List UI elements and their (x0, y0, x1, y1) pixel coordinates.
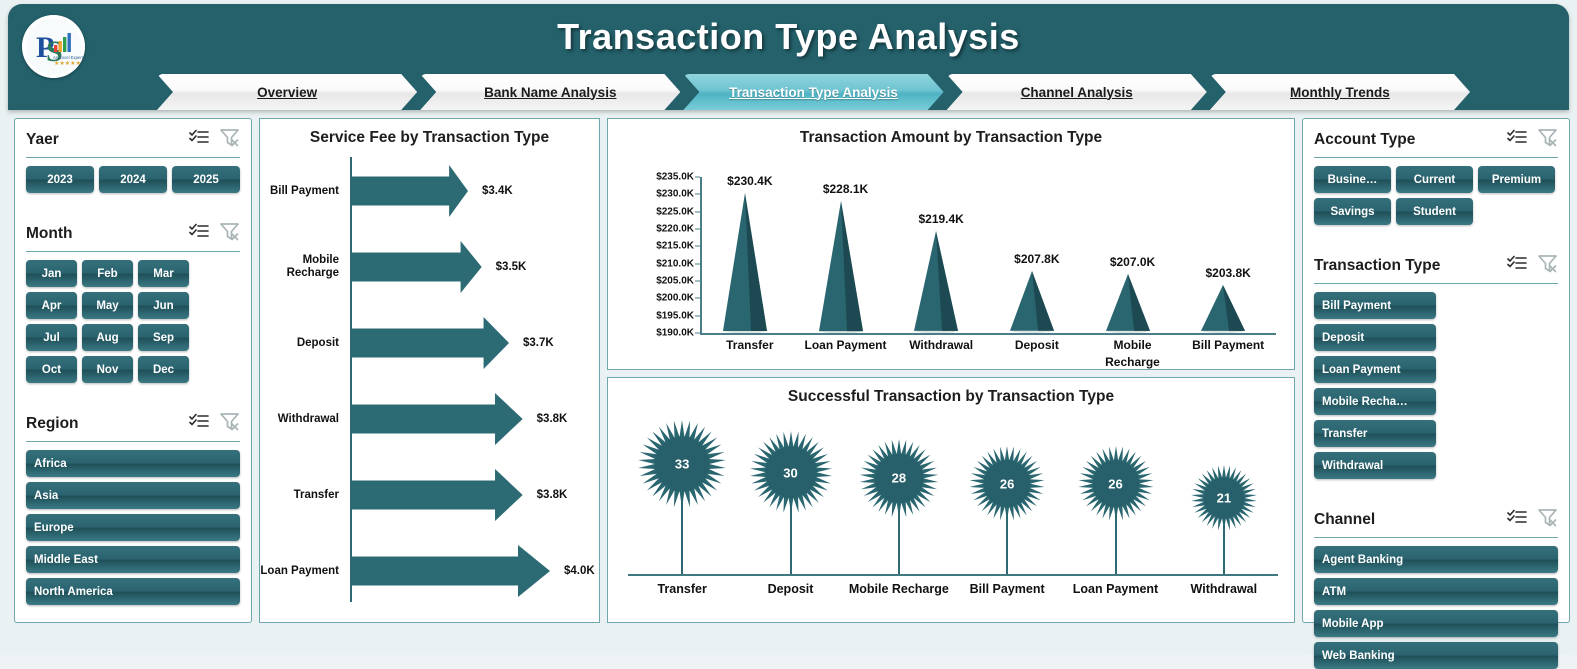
slicer-option-channel[interactable]: Agent Banking (1314, 546, 1558, 573)
slicer-option-transaction-type[interactable]: Transfer (1314, 420, 1436, 447)
burst-value-label: 26 (1108, 476, 1122, 491)
funnel-value-label: $3.8K (537, 489, 568, 501)
cone-y-tick-label: $235.0K (656, 172, 694, 183)
burst-x-tick-label: Deposit (737, 582, 845, 596)
cone-item[interactable]: $230.4K (702, 177, 798, 333)
slicer-option-account-type[interactable]: Student (1396, 198, 1473, 225)
cone-y-tick-label: $200.0K (656, 293, 694, 304)
slicer-options-region: AfricaAsiaEuropeMiddle EastNorth America (26, 450, 240, 605)
slicer-option-month[interactable]: Oct (26, 356, 77, 383)
funnel-value-label: $4.0K (564, 565, 595, 577)
funnel-category-label: Mobile Recharge (260, 254, 346, 280)
slicer-option-month[interactable]: Apr (26, 292, 77, 319)
slicer-option-channel[interactable]: Mobile App (1314, 610, 1558, 637)
service-fee-plot-area: Bill Payment$3.4KMobile Recharge$3.5KDep… (260, 147, 599, 602)
funnel-row[interactable]: Deposit$3.7K (260, 305, 599, 381)
funnel-arrow-wrap: $3.8K (346, 381, 599, 457)
funnel-row[interactable]: Mobile Recharge$3.5K (260, 229, 599, 305)
slicer-option-transaction-type[interactable]: Mobile Recha… (1314, 388, 1436, 415)
slicer-divider (26, 251, 240, 252)
cone-y-tick-label: $215.0K (656, 241, 694, 252)
slicer-option-month[interactable]: Dec (138, 356, 189, 383)
slicer-month: Month JanFebMarAprMayJunJulAugSepOctNovD… (26, 213, 240, 403)
cone-y-tick-label: $225.0K (656, 206, 694, 217)
cone-x-tick-label: Withdrawal (893, 337, 989, 354)
spacer (1314, 479, 1558, 499)
slicer-option-month[interactable]: May (82, 292, 133, 319)
cone-shape[interactable] (817, 201, 875, 333)
burst-value-label: 30 (783, 465, 797, 480)
funnel-category-label: Transfer (260, 489, 346, 502)
transaction-amount-chart-panel: Transaction Amount by Transaction Type $… (607, 118, 1295, 370)
tab-label: Transaction Type Analysis (729, 85, 898, 100)
slicer-options-channel: Agent BankingATMMobile AppWeb Banking (1314, 546, 1558, 669)
slicer-title-channel: Channel (1314, 511, 1375, 529)
cone-value-label: $228.1K (823, 182, 868, 196)
funnel-category-label: Loan Payment (260, 565, 346, 578)
slicer-option-account-type[interactable]: Savings (1314, 198, 1391, 225)
clear-filter-icon[interactable] (1537, 508, 1558, 532)
tab-transaction-type-analysis[interactable]: Transaction Type Analysis (683, 74, 943, 110)
right-filter-panel: Account Type Busine…CurrentPremiumSaving… (1302, 118, 1570, 623)
service-fee-chart-title: Service Fee by Transaction Type (260, 119, 599, 147)
clear-filter-icon[interactable] (1537, 128, 1558, 152)
cone-value-label: $230.4K (727, 174, 772, 188)
multi-select-icon[interactable] (1507, 509, 1527, 531)
cone-value-label: $207.0K (1110, 255, 1155, 269)
cone-value-label: $203.8K (1205, 266, 1250, 280)
tab-overview[interactable]: Overview (157, 74, 417, 110)
slicer-header-region: Region (26, 403, 240, 436)
spacer (26, 193, 240, 213)
slicer-icons-year (189, 128, 240, 152)
cone-item[interactable]: $207.0K (1085, 177, 1181, 333)
slicer-header-account-type: Account Type (1314, 119, 1558, 152)
left-slicer-list: Yaer 202320242025Month JanFebMarAprMayJu… (15, 119, 251, 605)
burst-x-tick-label: Withdrawal (1170, 582, 1278, 596)
funnel-row[interactable]: Transfer$3.8K (260, 457, 599, 533)
slicer-options-month: JanFebMarAprMayJunJulAugSepOctNovDec (26, 260, 240, 383)
slicer-option-transaction-type[interactable]: Withdrawal (1314, 452, 1436, 479)
slicer-option-channel[interactable]: Web Banking (1314, 642, 1558, 669)
slicer-icons-month (189, 222, 240, 246)
cone-y-tick-label: $210.0K (656, 258, 694, 269)
slicer-option-month[interactable]: Feb (82, 260, 133, 287)
slicer-year: Yaer 202320242025 (26, 119, 240, 213)
cone-x-tick-label: Loan Payment (798, 337, 894, 354)
funnel-arrow-wrap: $3.8K (346, 457, 599, 533)
tab-bar: Overview Bank Name Analysis Transaction … (157, 74, 1470, 110)
funnel-arrow-wrap: $3.7K (346, 305, 599, 381)
clear-filter-icon[interactable] (219, 128, 240, 152)
tab-label: Channel Analysis (1021, 85, 1133, 100)
funnel-category-label: Bill Payment (260, 185, 346, 198)
transaction-amount-plot-area: $190.0K$195.0K$200.0K$205.0K$210.0K$215.… (608, 147, 1294, 357)
slicer-option-transaction-type[interactable]: Bill Payment (1314, 292, 1436, 319)
multi-select-icon[interactable] (189, 413, 209, 435)
slicer-icons-transaction-type (1507, 254, 1558, 278)
funnel-arrow-bar[interactable] (350, 545, 550, 597)
slicer-option-region[interactable]: North America (26, 578, 240, 605)
slicer-divider (26, 157, 240, 158)
slicer-header-transaction-type: Transaction Type (1314, 245, 1558, 278)
cone-x-tick-label: Bill Payment (1180, 337, 1276, 354)
cone-y-tick-label: $195.0K (656, 310, 694, 321)
slicer-divider (1314, 537, 1558, 538)
slicer-option-transaction-type[interactable]: Loan Payment (1314, 356, 1436, 383)
funnel-value-label: $3.7K (523, 337, 554, 349)
cone-value-label: $207.8K (1014, 252, 1059, 266)
funnel-row[interactable]: Bill Payment$3.4K (260, 153, 599, 229)
slicer-transaction-type: Transaction Type Bill PaymentDepositLoan… (1314, 245, 1558, 499)
funnel-arrow-bar[interactable] (350, 165, 468, 217)
cone-item[interactable]: $203.8K (1180, 177, 1276, 333)
cone-shape[interactable] (912, 231, 970, 333)
cone-shape[interactable] (1199, 285, 1257, 333)
funnel-category-label: Deposit (260, 337, 346, 350)
burst-value-label: 28 (892, 471, 906, 486)
cone-y-tick-label: $220.0K (656, 224, 694, 235)
cone-value-axis: $190.0K$195.0K$200.0K$205.0K$210.0K$215.… (614, 177, 700, 333)
slicer-account-type: Account Type Busine…CurrentPremiumSaving… (1314, 119, 1558, 245)
slicer-divider (26, 441, 240, 442)
cone-item[interactable]: $228.1K (798, 177, 894, 333)
tab-bank-name-analysis[interactable]: Bank Name Analysis (420, 74, 680, 110)
slicer-options-account-type: Busine…CurrentPremiumSavingsStudent (1314, 166, 1558, 225)
transaction-amount-chart-title: Transaction Amount by Transaction Type (608, 119, 1294, 147)
slicer-option-month[interactable]: Aug (82, 324, 133, 351)
slicer-option-year[interactable]: 2025 (172, 166, 240, 193)
slicer-title-region: Region (26, 415, 79, 433)
slicer-option-month[interactable]: Nov (82, 356, 133, 383)
funnel-row[interactable]: Loan Payment$4.0K (260, 533, 599, 609)
funnel-arrow-wrap: $3.4K (346, 153, 599, 229)
slicer-channel: Channel Agent BankingATMMobile AppWeb Ba… (1314, 499, 1558, 669)
slicer-option-region[interactable]: Middle East (26, 546, 240, 573)
tab-channel-analysis[interactable]: Channel Analysis (947, 74, 1207, 110)
svg-text:★★★★★: ★★★★★ (54, 60, 81, 67)
slicer-option-month[interactable]: Jan (26, 260, 77, 287)
successful-transaction-plot-area: 33Transfer 30Deposit 28Mobile Recharge 2… (608, 406, 1294, 612)
slicer-header-year: Yaer (26, 119, 240, 152)
funnel-arrow-bar[interactable] (350, 393, 523, 445)
funnel-row[interactable]: Withdrawal$3.8K (260, 381, 599, 457)
slicer-option-month[interactable]: Jun (138, 292, 189, 319)
cone-y-tick-label: $205.0K (656, 276, 694, 287)
left-filter-panel: Yaer 202320242025Month JanFebMarAprMayJu… (14, 118, 252, 623)
spacer (26, 383, 240, 403)
slicer-option-region[interactable]: Asia (26, 482, 240, 509)
funnel-arrow-wrap: $4.0K (346, 533, 599, 609)
clear-filter-icon[interactable] (219, 412, 240, 436)
slicer-divider (1314, 157, 1558, 158)
multi-select-icon[interactable] (1507, 255, 1527, 277)
slicer-options-year: 202320242025 (26, 166, 240, 193)
slicer-option-account-type[interactable]: Current (1396, 166, 1473, 193)
slicer-title-month: Month (26, 225, 72, 243)
funnel-arrow-bar[interactable] (350, 469, 523, 521)
slicer-icons-account-type (1507, 128, 1558, 152)
slicer-title-transaction-type: Transaction Type (1314, 257, 1440, 275)
funnel-category-label: Withdrawal (260, 413, 346, 426)
cone-x-tick-label: Transfer (702, 337, 798, 354)
funnel-value-label: $3.8K (537, 413, 568, 425)
tab-label: Bank Name Analysis (484, 85, 616, 100)
funnel-arrow-wrap: $3.5K (346, 229, 599, 305)
cone-item[interactable]: $219.4K (893, 177, 989, 333)
multi-select-icon[interactable] (189, 129, 209, 151)
slicer-option-region[interactable]: Africa (26, 450, 240, 477)
slicer-option-region[interactable]: Europe (26, 514, 240, 541)
slicer-icons-region (189, 412, 240, 436)
multi-select-icon[interactable] (189, 223, 209, 245)
multi-select-icon[interactable] (1507, 129, 1527, 151)
cone-axis-baseline (700, 333, 1276, 335)
slicer-title-account-type: Account Type (1314, 131, 1415, 149)
slicer-title-year: Yaer (26, 131, 59, 149)
slicer-option-transaction-type[interactable]: Deposit (1314, 324, 1436, 351)
funnel-value-label: $3.5K (496, 261, 527, 273)
slicer-option-year[interactable]: 2023 (26, 166, 94, 193)
cone-shape[interactable] (1104, 274, 1162, 333)
slicer-option-month[interactable]: Mar (138, 260, 189, 287)
burst-value-label: 21 (1217, 491, 1231, 506)
successful-transaction-chart-panel: Successful Transaction by Transaction Ty… (607, 377, 1295, 623)
funnel-value-label: $3.4K (482, 185, 513, 197)
slicer-header-month: Month (26, 213, 240, 246)
cone-x-tick-label: Deposit (989, 337, 1085, 354)
cone-x-tick-label: Mobile Recharge (1085, 337, 1181, 371)
slicer-region: Region AfricaAsiaEuropeMiddle EastNorth … (26, 403, 240, 605)
tab-monthly-trends[interactable]: Monthly Trends (1210, 74, 1470, 110)
burst-x-tick-label: Loan Payment (1062, 582, 1170, 596)
service-fee-chart-panel: Service Fee by Transaction Type Bill Pay… (259, 118, 600, 623)
slicer-options-transaction-type: Bill PaymentDepositLoan PaymentMobile Re… (1314, 292, 1558, 479)
slicer-divider (1314, 283, 1558, 284)
burst-x-tick-label: Transfer (628, 582, 736, 596)
spacer (1314, 225, 1558, 245)
cone-shape[interactable] (1008, 271, 1066, 333)
clear-filter-icon[interactable] (219, 222, 240, 246)
burst-value-label: 26 (1000, 476, 1014, 491)
funnel-arrow-bar[interactable] (350, 317, 509, 369)
clear-filter-icon[interactable] (1537, 254, 1558, 278)
report-canvas: P S An Excel Expert ★★★★★ Transaction Ty… (0, 0, 1577, 655)
page-title: Transaction Type Analysis (8, 16, 1569, 58)
burst-value-label: 33 (675, 457, 689, 472)
cone-value-label: $219.4K (918, 212, 963, 226)
tab-label: Monthly Trends (1290, 85, 1390, 100)
successful-transaction-chart-title: Successful Transaction by Transaction Ty… (608, 378, 1294, 406)
cone-shape[interactable] (721, 193, 779, 333)
slicer-header-channel: Channel (1314, 499, 1558, 532)
slicer-option-month[interactable]: Jul (26, 324, 77, 351)
burst-x-tick-label: Mobile Recharge (845, 582, 953, 596)
slicer-option-account-type[interactable]: Premium (1478, 166, 1555, 193)
slicer-option-year[interactable]: 2024 (99, 166, 167, 193)
cone-series: $230.4K $228.1K $219.4K $207.8K $207.0K (702, 177, 1276, 333)
right-slicer-list: Account Type Busine…CurrentPremiumSaving… (1303, 119, 1569, 669)
cone-item[interactable]: $207.8K (989, 177, 1085, 333)
slicer-option-account-type[interactable]: Busine… (1314, 166, 1391, 193)
slicer-icons-channel (1507, 508, 1558, 532)
cone-y-tick-label: $230.0K (656, 189, 694, 200)
tab-label: Overview (257, 85, 317, 100)
burst-x-tick-label: Bill Payment (953, 582, 1061, 596)
cone-y-tick-label: $190.0K (656, 328, 694, 339)
funnel-arrow-bar[interactable] (350, 241, 482, 293)
slicer-option-month[interactable]: Sep (138, 324, 189, 351)
slicer-option-channel[interactable]: ATM (1314, 578, 1558, 605)
